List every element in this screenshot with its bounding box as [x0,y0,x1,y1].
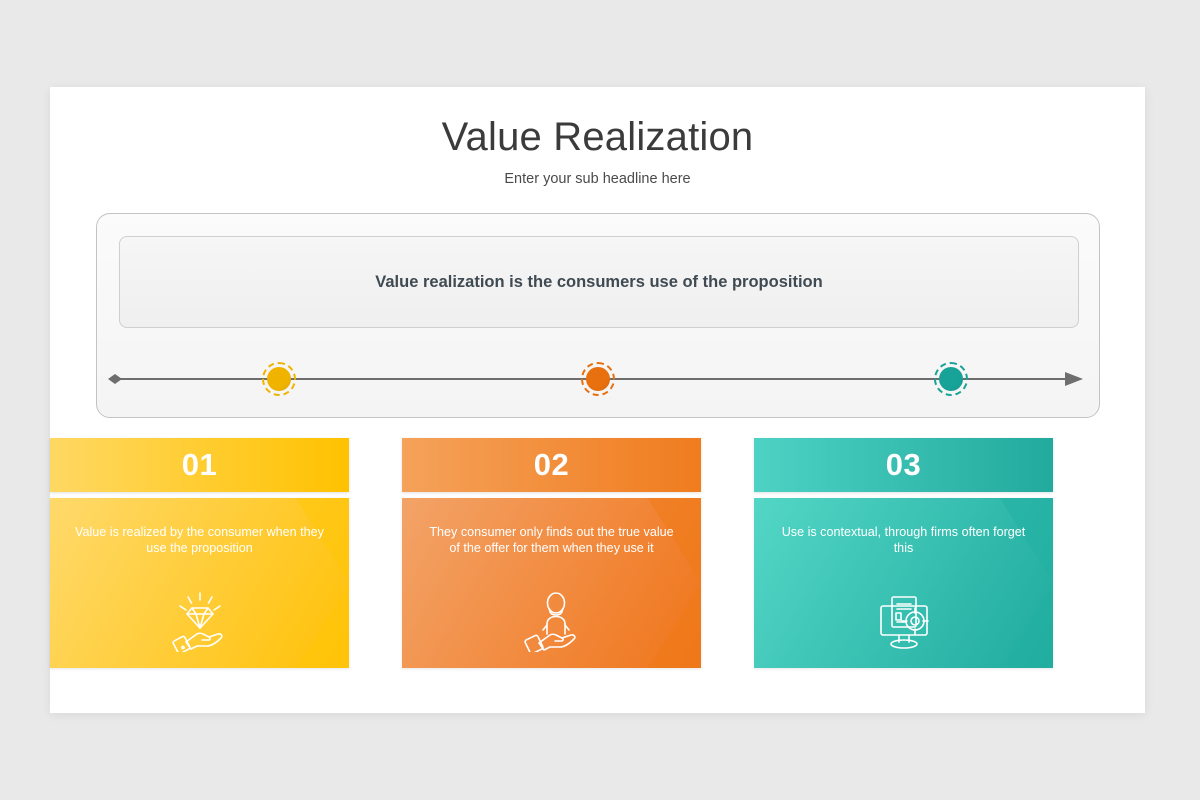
card-02-header: 02 [402,438,701,492]
page-subtitle: Enter your sub headline here [50,171,1145,187]
card-03[interactable]: 03 Use is contextual, through firms ofte… [754,438,1053,668]
card-01-body: Value is realized by the consumer when t… [50,498,349,668]
timeline-marker-dot [939,367,963,391]
statement-text: Value realization is the consumers use o… [355,273,842,292]
card-01[interactable]: 01 Value is realized by the consumer whe… [50,438,349,668]
card-02[interactable]: 02 They consumer only finds out the true… [402,438,701,668]
hand-holding-person-icon [516,590,588,652]
monitor-target-icon [868,590,940,652]
arrow-end-icon [1065,372,1083,386]
card-03-number: 03 [886,447,921,483]
timeline-panel: Value realization is the consumers use o… [96,213,1100,418]
timeline-marker-dot [586,367,610,391]
card-02-text: They consumer only finds out the true va… [402,498,701,556]
card-01-header: 01 [50,438,349,492]
hand-holding-diamond-icon [164,590,236,652]
card-02-number: 02 [534,447,569,483]
card-03-text: Use is contextual, through firms often f… [754,498,1053,556]
timeline-marker-01[interactable] [262,362,296,396]
slide-canvas: Value Realization Enter your sub headlin… [50,87,1145,713]
timeline-marker-03[interactable] [934,362,968,396]
card-02-body: They consumer only finds out the true va… [402,498,701,668]
timeline [97,344,1099,414]
card-03-body: Use is contextual, through firms often f… [754,498,1053,668]
card-01-number: 01 [182,447,217,483]
statement-box: Value realization is the consumers use o… [119,236,1079,328]
timeline-marker-02[interactable] [581,362,615,396]
card-01-text: Value is realized by the consumer when t… [50,498,349,556]
page-title: Value Realization [50,115,1145,160]
card-03-header: 03 [754,438,1053,492]
